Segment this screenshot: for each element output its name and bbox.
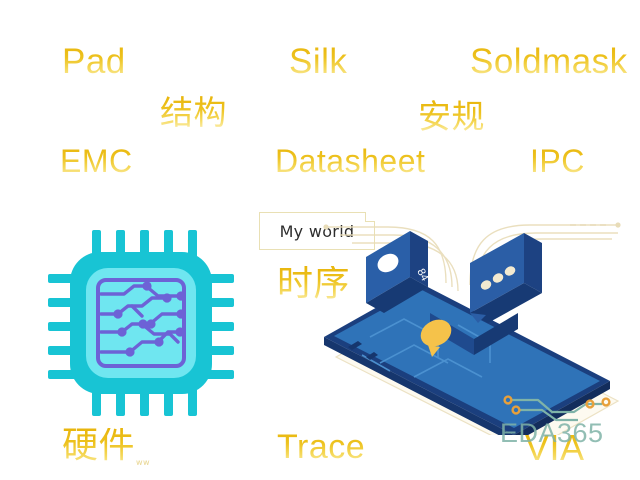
keyword-jiegou: 结构 bbox=[160, 96, 227, 129]
keyword-ipc: IPC bbox=[530, 145, 585, 177]
keyword-silk: Silk bbox=[289, 44, 347, 79]
trace-endpoint-dots bbox=[323, 222, 620, 229]
cpu-chip-icon bbox=[46, 228, 236, 418]
keyword-soldmask: Soldmask bbox=[470, 44, 628, 79]
eda365-logo: EDA365 bbox=[498, 392, 630, 454]
keyword-anggui: 安规 bbox=[418, 100, 485, 133]
chat-card bbox=[470, 233, 542, 323]
keyword-trace: Trace bbox=[277, 430, 365, 464]
logo-text: EDA365 bbox=[500, 418, 604, 449]
keyword-yingjian-text: 硬件 bbox=[62, 425, 135, 466]
keyword-yingjian: 硬件ww bbox=[62, 428, 150, 467]
keyword-datasheet: Datasheet bbox=[275, 145, 425, 177]
keyword-emc: EMC bbox=[60, 145, 133, 177]
keyword-pad: Pad bbox=[62, 44, 126, 79]
keyword-yingjian-subscript: ww bbox=[136, 458, 150, 467]
poster-canvas: Pad Silk Soldmask 结构 安规 EMC Datasheet IP… bbox=[0, 0, 640, 480]
